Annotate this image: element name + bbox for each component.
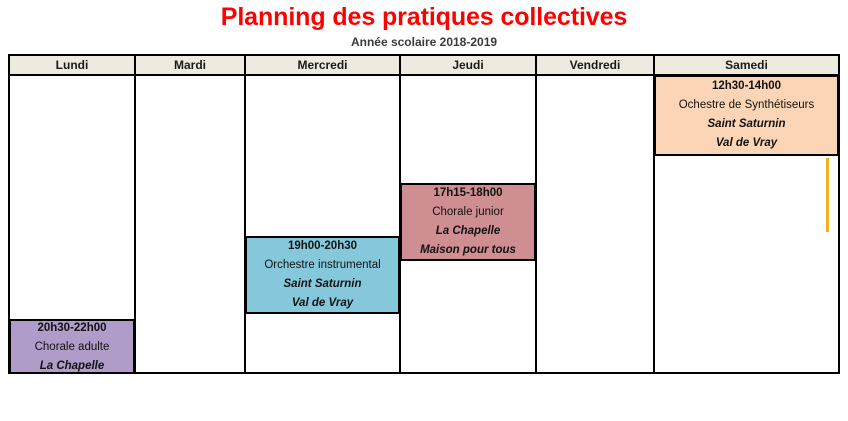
event-place: Saint Saturnin (708, 115, 786, 134)
event-time: 12h30-14h00 (712, 77, 781, 96)
table-body-row: 20h30-22h00 Chorale adulte La Chapelle M… (10, 76, 838, 372)
schedule-table: Lundi Mardi Mercredi Jeudi Vendredi Same… (8, 54, 840, 374)
column-header-mardi[interactable]: Mardi (136, 56, 246, 74)
title-area: Planning des pratiques collectives Année… (0, 0, 848, 52)
event-name: Chorale junior (432, 203, 504, 222)
event-time: 17h15-18h00 (433, 184, 502, 203)
event-place: La Chapelle (40, 357, 105, 372)
event-block-orchestre-instrumental[interactable]: 19h00-20h30 Orchestre instrumental Saint… (246, 236, 400, 314)
day-column-jeudi[interactable]: 17h15-18h00 Chorale junior La Chapelle M… (401, 76, 537, 372)
column-header-samedi[interactable]: Samedi (655, 56, 838, 74)
page-subtitle: Année scolaire 2018-2019 (0, 35, 848, 49)
column-header-jeudi[interactable]: Jeudi (401, 56, 537, 74)
event-block-ochestre-de-synthetiseurs[interactable]: 12h30-14h00 Ochestre de Synthétiseurs Sa… (655, 76, 838, 156)
event-venue: Val de Vray (292, 294, 353, 313)
right-edge-accent-line (826, 158, 829, 232)
column-header-lundi[interactable]: Lundi (10, 56, 136, 74)
event-name: Ochestre de Synthétiseurs (679, 96, 815, 115)
event-name: Orchestre instrumental (264, 256, 380, 275)
event-time: 20h30-22h00 (37, 319, 106, 338)
event-time: 19h00-20h30 (288, 237, 357, 256)
table-header-row: Lundi Mardi Mercredi Jeudi Vendredi Same… (10, 56, 838, 76)
day-column-mardi[interactable] (136, 76, 246, 372)
event-block-chorale-junior[interactable]: 17h15-18h00 Chorale junior La Chapelle M… (401, 183, 536, 261)
day-column-vendredi[interactable] (537, 76, 655, 372)
event-venue: Maison pour tous (420, 241, 516, 260)
event-block-chorale-adulte[interactable]: 20h30-22h00 Chorale adulte La Chapelle M… (10, 319, 135, 372)
page-title: Planning des pratiques collectives (0, 1, 848, 33)
event-venue: Val de Vray (716, 134, 777, 153)
day-column-lundi[interactable]: 20h30-22h00 Chorale adulte La Chapelle M… (10, 76, 136, 372)
event-name: Chorale adulte (35, 338, 110, 357)
day-column-mercredi[interactable]: 19h00-20h30 Orchestre instrumental Saint… (246, 76, 401, 372)
column-header-vendredi[interactable]: Vendredi (537, 56, 655, 74)
day-column-samedi[interactable]: 12h30-14h00 Ochestre de Synthétiseurs Sa… (655, 76, 838, 372)
event-place: Saint Saturnin (284, 275, 362, 294)
column-header-mercredi[interactable]: Mercredi (246, 56, 401, 74)
event-place: La Chapelle (436, 222, 501, 241)
